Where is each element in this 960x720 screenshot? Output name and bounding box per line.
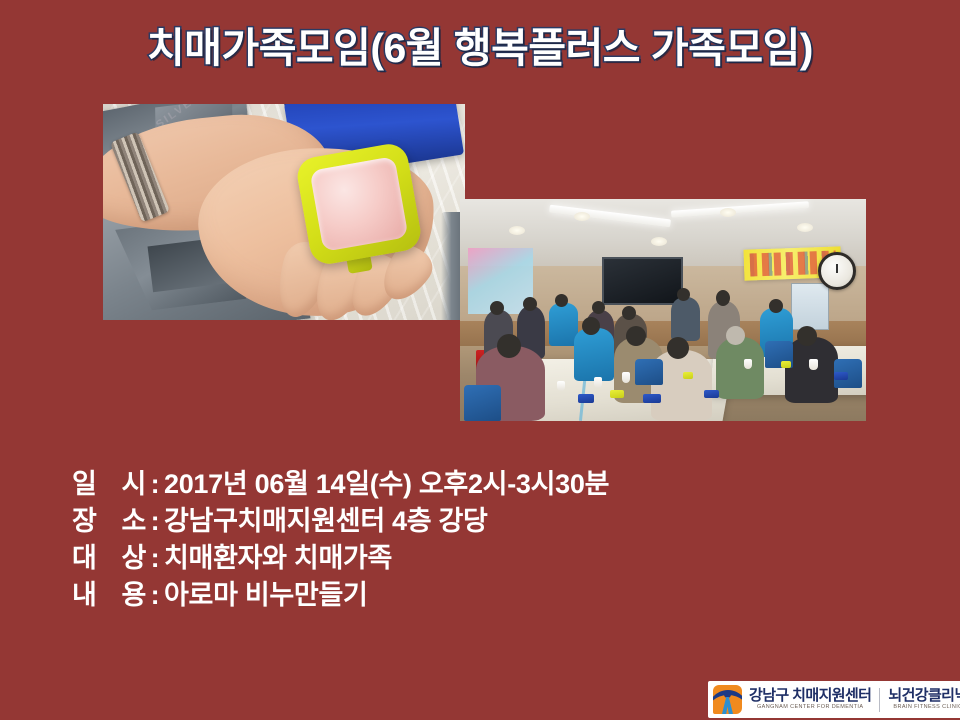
blue-mold-tray: [834, 372, 848, 380]
participant-head: [667, 337, 689, 359]
detail-colon: :: [146, 580, 164, 611]
detail-value-content: 아로마 비누만들기: [164, 573, 892, 612]
detail-value-date: 2017년 06월 14일(수) 오후2시-3시30분: [164, 462, 892, 501]
yellow-mold-tray: [610, 390, 624, 398]
staff-vest: [574, 328, 615, 381]
wall-monitor: [602, 257, 683, 305]
participant-head: [797, 326, 817, 346]
participant-seated: [716, 337, 765, 399]
detail-label-char-b: 소: [121, 499, 146, 538]
logo-primary-block: 강남구 치매지원센터 GANGNAM CENTER FOR DEMENTIA: [749, 688, 871, 711]
photo-soap-content: SILVER: [103, 104, 465, 320]
organization-logo: 강남구 치매지원센터 GANGNAM CENTER FOR DEMENTIA 뇌…: [708, 681, 960, 718]
detail-label-char-b: 상: [121, 536, 146, 575]
detail-label-char-a: 대: [72, 536, 97, 575]
logo-primary-ko: 강남구 치매지원센터: [749, 688, 871, 704]
blue-mold-tray: [643, 394, 661, 403]
detail-label-content: 내 용: [72, 573, 146, 612]
logo-secondary-block: 뇌건강클리닉 BRAIN FITNESS CLINIC: [888, 688, 960, 711]
detail-label-char-a: 일: [72, 462, 97, 501]
detail-row-place: 장 소 : 강남구치매지원센터 4층 강당: [72, 499, 892, 536]
participant-head: [622, 306, 636, 320]
detail-colon: :: [146, 543, 164, 574]
participant-head: [497, 334, 521, 358]
participant-head: [677, 288, 690, 301]
logo-primary-en: GANGNAM CENTER FOR DEMENTIA: [757, 703, 863, 711]
yellow-mold-tray: [781, 361, 791, 368]
detail-label-char-a: 장: [72, 499, 97, 538]
detail-colon: :: [146, 469, 164, 500]
gangnam-dementia-center-icon: [713, 685, 742, 714]
logo-secondary-ko: 뇌건강클리닉: [888, 688, 960, 704]
participant-head: [523, 297, 537, 311]
detail-colon: :: [146, 506, 164, 537]
participant: [671, 297, 699, 341]
ceiling-downlight: [509, 226, 525, 235]
pink-aroma-soap: [310, 156, 409, 252]
photo-group-activity-hall: [460, 199, 866, 421]
detail-label-char-b: 용: [121, 573, 146, 612]
paper-cup: [744, 359, 752, 369]
participant-head: [726, 326, 745, 345]
logo-divider: [879, 688, 880, 712]
logo-wordmark: 강남구 치매지원센터 GANGNAM CENTER FOR DEMENTIA 뇌…: [749, 688, 960, 712]
detail-row-date: 일 시 : 2017년 06월 14일(수) 오후2시-3시30분: [72, 462, 892, 499]
participant-head: [769, 299, 783, 313]
event-details: 일 시 : 2017년 06월 14일(수) 오후2시-3시30분 장 소 : …: [72, 462, 892, 610]
participant-head: [626, 326, 646, 346]
photo-hall-content: [460, 199, 866, 421]
participant-head: [582, 317, 600, 335]
page-title: 치매가족모임(6월 행복플러스 가족모임): [0, 14, 960, 74]
blue-mold-tray: [578, 394, 594, 403]
detail-label-place: 장 소: [72, 499, 146, 538]
detail-row-audience: 대 상 : 치매환자와 치매가족: [72, 536, 892, 573]
detail-value-audience: 치매환자와 치매가족: [164, 536, 892, 575]
chair: [635, 359, 663, 386]
ceiling-downlight: [651, 237, 667, 246]
hall-window: [791, 283, 830, 329]
wall-clock: [818, 252, 856, 290]
detail-label-char-a: 내: [72, 573, 97, 612]
detail-label-date: 일 시: [72, 462, 146, 501]
photo-soap-making-closeup: SILVER: [103, 104, 465, 320]
yellow-soap-mold: [294, 141, 423, 267]
ceiling-downlight: [720, 208, 736, 217]
yellow-mold-tray: [683, 372, 693, 379]
detail-label-audience: 대 상: [72, 536, 146, 575]
blue-mold-tray: [704, 390, 719, 398]
chair: [464, 385, 501, 421]
slide-canvas: 치매가족모임(6월 행복플러스 가족모임) SILVER: [0, 0, 960, 720]
paper-cup: [809, 359, 818, 370]
detail-label-char-b: 시: [121, 462, 146, 501]
detail-value-place: 강남구치매지원센터 4층 강당: [164, 499, 892, 538]
participant-head: [592, 301, 605, 314]
detail-row-content: 내 용 : 아로마 비누만들기: [72, 573, 892, 610]
logo-secondary-en: BRAIN FITNESS CLINIC: [893, 703, 960, 711]
paper-cup: [594, 377, 602, 388]
participant-head: [716, 290, 730, 306]
logo-head-shape: [724, 691, 731, 698]
